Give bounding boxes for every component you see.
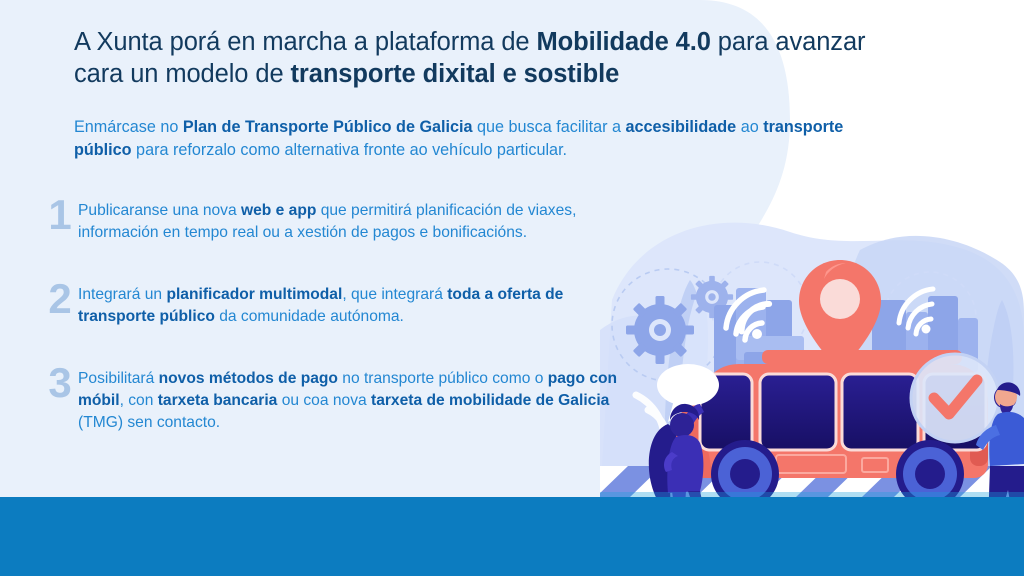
list-item-number: 3 [45,362,75,404]
lead-part-1: Enmárcase no [74,118,183,136]
list-item-span: ou coa nova [277,392,371,409]
lead-part-4: para reforzalo como alternativa fronte a… [132,141,568,159]
list-item: 2Integrará un planificador multimodal, q… [40,284,640,340]
list-item-emphasis: planificador multimodal [166,286,342,303]
list-item-span: no transporte público como o [338,370,548,387]
footer-bar: XUNTA DE GALICIA [0,497,1024,576]
list-item-emphasis: tarxeta de mobilidade de Galicia [371,392,609,409]
text-content: A Xunta porá en marcha a plataforma de M… [0,0,1024,497]
list-item-span: da comunidade autónoma. [215,308,404,325]
list-item-text: Posibilitará novos métodos de pago no tr… [78,368,638,433]
list-item-text: Integrará un planificador multimodal, qu… [78,284,638,328]
lead-part-3: ao [736,118,763,136]
list-item-text: Publicaranse una nova web e app que perm… [78,200,638,244]
list-item-span: Integrará un [78,286,166,303]
list-item-emphasis: tarxeta bancaria [158,392,278,409]
list-item-span: (TMG) sen contacto. [78,414,220,431]
lead-part-2: que busca facilitar a [473,118,626,136]
headline-part-3: cara un modelo de [74,60,291,88]
list-item-span: , que integrará [342,286,447,303]
list-item-emphasis: web e app [241,202,316,219]
list-item-emphasis: novos métodos de pago [159,370,338,387]
headline-part-2: para avanzar [711,28,866,56]
lead-paragraph: Enmárcase no Plan de Transporte Público … [74,116,874,163]
list-item-number: 2 [45,278,75,320]
infographic-canvas: A Xunta porá en marcha a plataforma de M… [0,0,1024,576]
headline-part-1: A Xunta porá en marcha a plataforma de [74,28,536,56]
page-title: A Xunta porá en marcha a plataforma de M… [74,26,934,91]
headline-bold-transporte: transporte dixital e sostible [291,60,620,88]
list-item: 1Publicaranse una nova web e app que per… [40,200,640,256]
list-item-span: Publicaranse una nova [78,202,241,219]
list-item-span: Posibilitará [78,370,159,387]
headline-bold-mobilidade: Mobilidade 4.0 [536,28,710,56]
list-item: 3Posibilitará novos métodos de pago no t… [40,368,640,433]
numbered-list: 1Publicaranse una nova web e app que per… [40,200,640,461]
list-item-span: , con [120,392,158,409]
list-item-number: 1 [45,194,75,236]
lead-bold-plan: Plan de Transporte Público de Galicia [183,118,473,136]
lead-bold-accesibilidade: accesibilidade [626,118,737,136]
